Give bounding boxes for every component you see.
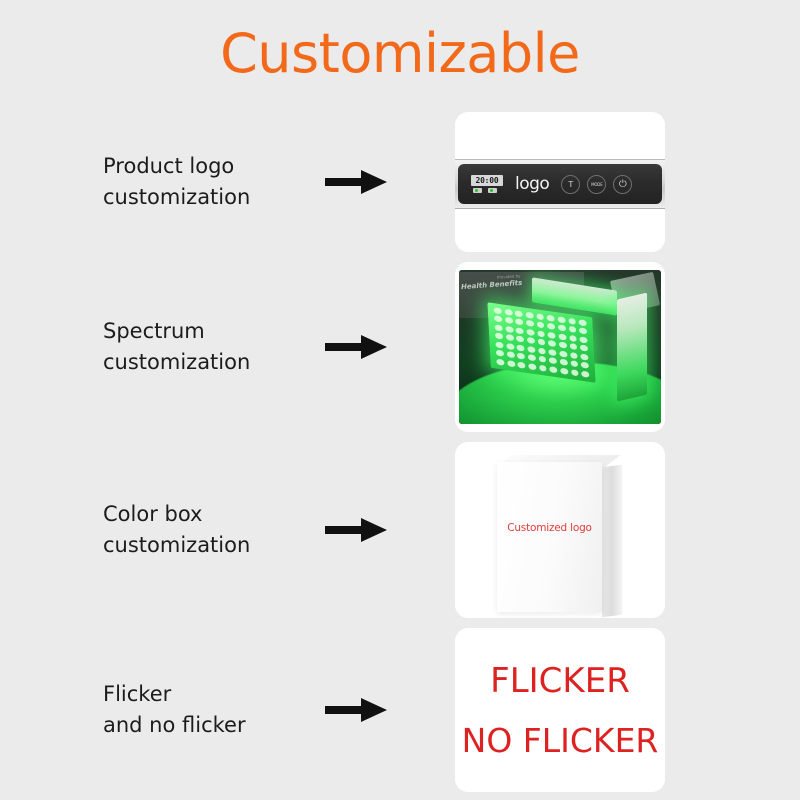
media-card-control-panel: 20:00 logo T MODE ⏻ bbox=[455, 112, 665, 252]
flicker-text-group: FLICKER NO FLICKER bbox=[455, 628, 665, 792]
arrow-right-icon bbox=[325, 332, 387, 362]
box-front-face bbox=[497, 462, 602, 612]
control-buttons: T MODE ⏻ bbox=[561, 175, 632, 194]
arrow-right-icon bbox=[325, 167, 387, 197]
led-diode-grid bbox=[493, 306, 590, 378]
control-panel-frame: 20:00 logo T MODE ⏻ bbox=[455, 159, 665, 209]
feature-row-spectrum: Spectrum customization Provided by Healt… bbox=[0, 262, 800, 432]
feature-label-spectrum: Spectrum customization bbox=[103, 316, 250, 378]
timer-display: 20:00 bbox=[471, 175, 503, 186]
control-panel-face: 20:00 logo T MODE ⏻ bbox=[458, 164, 662, 204]
led-therapy-photo: Provided by Health Benefits bbox=[459, 270, 661, 424]
media-card-color-box: Customized logo bbox=[455, 442, 665, 618]
poster-text: Health Benefits bbox=[461, 279, 523, 291]
feature-label-flicker: Flicker and no flicker bbox=[103, 679, 246, 741]
led-panel-right-wing bbox=[617, 293, 647, 402]
indicator-light-2 bbox=[488, 188, 497, 193]
box-side-face bbox=[602, 465, 622, 617]
timer-button[interactable]: T bbox=[561, 175, 580, 194]
feature-row-product-logo: Product logo customization 20:00 logo bbox=[0, 112, 800, 252]
media-card-flicker: FLICKER NO FLICKER bbox=[455, 628, 665, 792]
feature-row-flicker: Flicker and no flicker FLICKER NO FLICKE… bbox=[0, 628, 800, 792]
power-button[interactable]: ⏻ bbox=[613, 175, 632, 194]
feature-label-product-logo: Product logo customization bbox=[103, 151, 250, 213]
no-flicker-label: NO FLICKER bbox=[462, 724, 659, 757]
media-card-led-therapy: Provided by Health Benefits bbox=[455, 262, 665, 432]
infographic-page: Customizable Product logo customization … bbox=[0, 0, 800, 800]
indicator-lights bbox=[471, 188, 503, 193]
arrow-right-icon bbox=[325, 515, 387, 545]
brand-logo-text: logo bbox=[515, 174, 549, 194]
indicator-light-1 bbox=[473, 188, 482, 193]
mode-button[interactable]: MODE bbox=[587, 175, 606, 194]
feature-label-color-box: Color box customization bbox=[103, 499, 250, 561]
feature-row-color-box: Color box customization Customized logo bbox=[0, 442, 800, 618]
arrow-right-icon bbox=[325, 695, 387, 725]
product-box-photo: Customized logo bbox=[455, 442, 665, 618]
page-title: Customizable bbox=[0, 22, 800, 85]
flicker-label: FLICKER bbox=[490, 664, 630, 698]
box-logo-text: Customized logo bbox=[497, 522, 602, 534]
timer-display-group: 20:00 bbox=[471, 175, 503, 193]
